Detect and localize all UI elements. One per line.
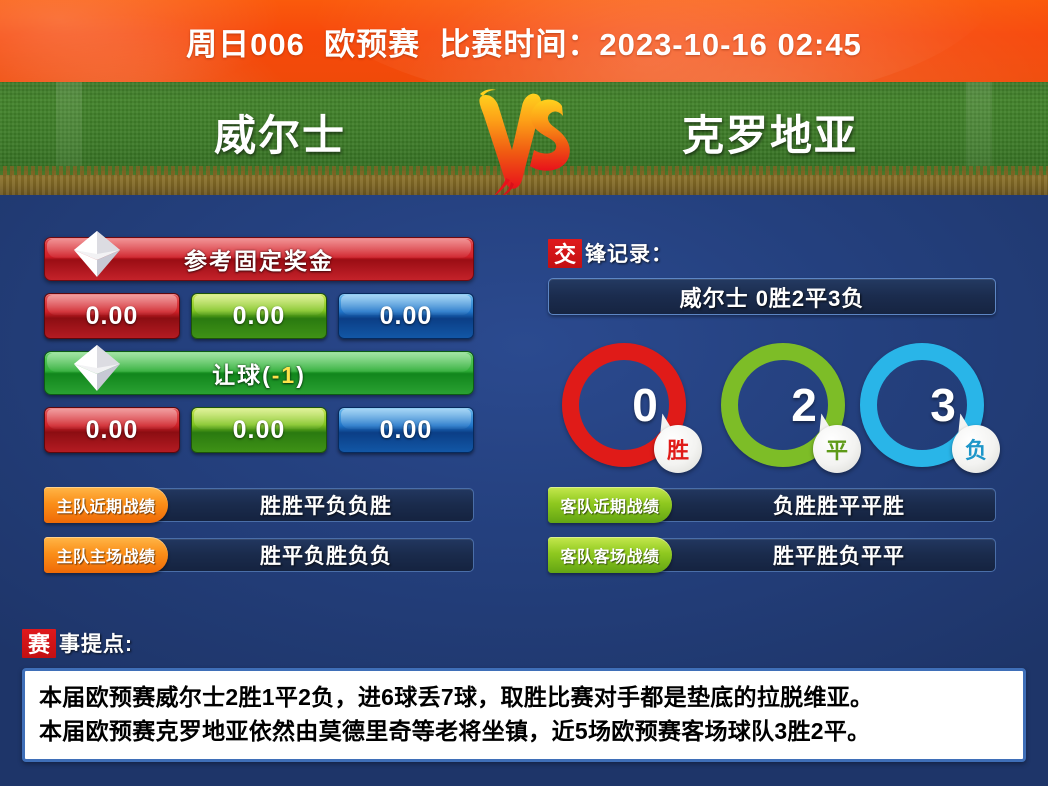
versus-icon <box>466 88 584 196</box>
analysis-heading: 赛 事提点: <box>22 627 1026 659</box>
header-title: 周日006 欧预赛 比赛时间：2023-10-16 02:45 <box>0 0 1048 82</box>
analysis-section: 赛 事提点: 本届欧预赛威尔士2胜1平2负，进6球丢7球，取胜比赛对手都是垫底的… <box>22 627 1026 762</box>
away-team-name: 克罗地亚 <box>610 96 930 168</box>
home-home-form-tag: 主队主场战绩 <box>44 537 168 573</box>
match-preview-page: 周日006 欧预赛 比赛时间：2023-10-16 02:45 威尔士 克罗地亚 <box>0 0 1048 786</box>
fixed-prize-title-bar: 参考固定奖金 <box>44 237 474 281</box>
head-to-head-heading-badge: 交 <box>548 239 582 268</box>
handicap-value: -1 <box>272 362 296 388</box>
ring-losses: 3 负 <box>860 343 984 467</box>
handicap-odds-home-button[interactable]: 0.00 <box>44 407 180 453</box>
home-recent-form-tag: 主队近期战绩 <box>44 487 168 523</box>
home-home-form-result: 胜平负胜负负 <box>152 538 474 572</box>
diamond-icon <box>71 342 123 394</box>
fixed-odds-home-button[interactable]: 0.00 <box>44 293 180 339</box>
analysis-line-2: 本届欧预赛克罗地亚依然由莫德里奇等老将坐镇，近5场欧预赛客场球队3胜2平。 <box>39 714 1009 748</box>
fixed-odds-home-value: 0.00 <box>86 302 139 331</box>
home-form-section: 胜胜平负负胜 主队近期战绩 胜平负胜负负 主队主场战绩 <box>44 487 474 573</box>
diamond-icon <box>71 228 123 280</box>
main-body: 参考固定奖金 0.00 0.00 0.00 <box>0 195 1048 786</box>
away-recent-form-result: 负胜胜平平胜 <box>656 488 996 522</box>
fixed-odds-draw-button[interactable]: 0.00 <box>191 293 327 339</box>
analysis-line-1: 本届欧预赛威尔士2胜1平2负，进6球丢7球，取胜比赛对手都是垫底的拉脱维亚。 <box>39 680 1009 714</box>
analysis-text-box: 本届欧预赛威尔士2胜1平2负，进6球丢7球，取胜比赛对手都是垫底的拉脱维亚。 本… <box>22 668 1026 762</box>
handicap-suffix: ) <box>296 362 306 388</box>
handicap-odds-row: 0.00 0.00 0.00 <box>44 407 474 453</box>
fixed-prize-title-label: 参考固定奖金 <box>184 242 334 276</box>
away-away-form-result: 胜平胜负平平 <box>656 538 996 572</box>
handicap-prefix: 让球( <box>212 362 272 388</box>
ring-draws: 2 平 <box>721 343 845 467</box>
head-to-head-heading-text: 锋记录： <box>585 238 673 268</box>
fixed-odds-away-button[interactable]: 0.00 <box>338 293 474 339</box>
handicap-title-label: 让球(-1) <box>212 356 306 390</box>
head-to-head-summary: 威尔士 0胜2平3负 <box>548 278 996 315</box>
ring-wins-badge: 胜 <box>654 425 702 473</box>
odds-panel: 参考固定奖金 0.00 0.00 0.00 <box>44 237 474 465</box>
header-bar: 周日006 欧预赛 比赛时间：2023-10-16 02:45 <box>0 0 1048 82</box>
away-away-form-tag: 客队客场战绩 <box>548 537 672 573</box>
handicap-odds-away-value: 0.00 <box>380 416 433 445</box>
head-to-head-panel: 交 锋记录： 威尔士 0胜2平3负 0 胜 2 平 <box>548 237 996 477</box>
analysis-heading-badge: 赛 <box>22 629 56 658</box>
home-home-form-row: 胜平负胜负负 主队主场战绩 <box>44 537 474 573</box>
ring-wins: 0 胜 <box>562 343 686 467</box>
away-away-form-row: 胜平胜负平平 客队客场战绩 <box>548 537 996 573</box>
handicap-odds-draw-value: 0.00 <box>233 416 286 445</box>
handicap-odds-away-button[interactable]: 0.00 <box>338 407 474 453</box>
away-form-section: 负胜胜平平胜 客队近期战绩 胜平胜负平平 客队客场战绩 <box>548 487 996 573</box>
analysis-heading-text: 事提点: <box>59 628 133 658</box>
head-to-head-rings: 0 胜 2 平 3 负 <box>548 337 996 477</box>
head-to-head-heading: 交 锋记录： <box>548 237 996 269</box>
home-recent-form-row: 胜胜平负负胜 主队近期战绩 <box>44 487 474 523</box>
home-recent-form-result: 胜胜平负负胜 <box>152 488 474 522</box>
handicap-odds-home-value: 0.00 <box>86 416 139 445</box>
handicap-title-bar: 让球(-1) <box>44 351 474 395</box>
away-recent-form-row: 负胜胜平平胜 客队近期战绩 <box>548 487 996 523</box>
away-recent-form-tag: 客队近期战绩 <box>548 487 672 523</box>
fixed-odds-row: 0.00 0.00 0.00 <box>44 293 474 339</box>
home-team-name: 威尔士 <box>120 96 440 168</box>
ring-losses-badge: 负 <box>952 425 1000 473</box>
handicap-odds-draw-button[interactable]: 0.00 <box>191 407 327 453</box>
fixed-odds-draw-value: 0.00 <box>233 302 286 331</box>
fixed-odds-away-value: 0.00 <box>380 302 433 331</box>
ring-draws-badge: 平 <box>813 425 861 473</box>
